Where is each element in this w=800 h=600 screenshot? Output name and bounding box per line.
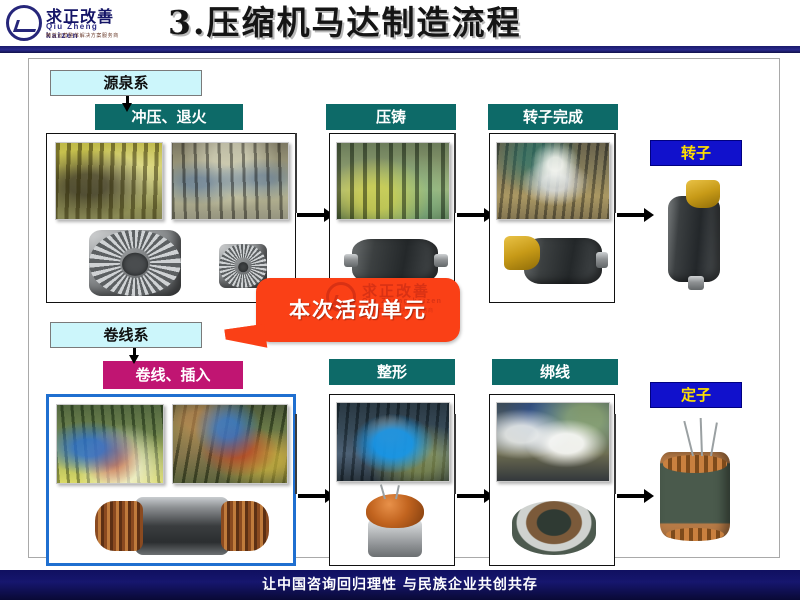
system-label-rotor: 源泉系 <box>50 70 202 96</box>
photo-annealing-line <box>171 142 289 220</box>
output-part-rotor <box>668 196 720 282</box>
system-label-stator: 卷线系 <box>50 322 202 348</box>
part-copper-bundle-right <box>221 501 269 551</box>
output-part-stator-leads <box>688 418 722 456</box>
activity-callout: 求正改善 Qiu Zheng kaizen 精益运营整体解决方案服务商 本次活动… <box>256 278 460 342</box>
part-rotor-shaft-right <box>434 254 448 267</box>
part-shaped-stator-winding <box>366 494 424 528</box>
panel-divider-3 <box>614 133 616 213</box>
step-panel-winding-insertion <box>46 394 296 566</box>
logo-tagline: 精益运营整体解决方案服务商 <box>46 32 119 39</box>
part-stator-core-lamination <box>89 230 181 296</box>
slide-header: 求正改善 Qiu Zheng kaizen 精益运营整体解决方案服务商 3.压缩… <box>0 0 800 52</box>
connector-system-to-step-rotor <box>126 96 129 104</box>
header-divider <box>0 46 800 53</box>
panel-divider-2 <box>454 133 456 213</box>
step-label-winding-insertion[interactable]: 卷线、插入 <box>103 361 243 389</box>
photo-rotor-assembly-worker <box>496 142 610 220</box>
slide-footer: 让中国咨询回归理性 与民族企业共创共存 <box>0 570 800 600</box>
part-finished-rotor-shaft <box>596 252 608 268</box>
panel-divider-5 <box>454 414 456 494</box>
step-label-lacing[interactable]: 绑线 <box>492 359 618 385</box>
step-label-die-casting[interactable]: 压铸 <box>326 104 456 130</box>
photo-die-casting-machine <box>336 142 450 220</box>
step-label-rotor-complete[interactable]: 转子完成 <box>488 104 618 130</box>
slide-root: 求正改善 Qiu Zheng kaizen 精益运营整体解决方案服务商 3.压缩… <box>0 0 800 600</box>
photo-lacing-hands <box>496 402 610 482</box>
flow-arrow-3 <box>617 213 645 217</box>
output-part-rotor-shaft <box>688 276 704 290</box>
output-part-rotor-endring <box>686 180 720 208</box>
part-rotor-end-ring <box>504 236 540 270</box>
footer-slogan: 让中国咨询回归理性 与民族企业共创共存 <box>0 570 800 600</box>
step-label-shaping[interactable]: 整形 <box>329 359 455 385</box>
photo-stamping-line <box>55 142 163 220</box>
step-panel-lacing <box>489 394 615 566</box>
page-title: 3.压缩机马达制造流程 <box>168 1 728 45</box>
part-die-cast-rotor <box>352 239 438 283</box>
flow-arrow-1 <box>297 213 325 217</box>
step-panel-shaping <box>329 394 455 566</box>
part-inserted-stator <box>135 497 229 555</box>
flow-arrow-5 <box>457 494 485 498</box>
step-label-stamping-annealing[interactable]: 冲压、退火 <box>95 104 243 130</box>
flow-arrow-2 <box>457 213 485 217</box>
flow-arrow-4 <box>298 494 326 498</box>
panel-divider-4 <box>295 414 297 494</box>
photo-winding-machine <box>56 404 164 484</box>
output-part-stator <box>660 452 730 538</box>
photo-shaping-machine <box>336 402 450 482</box>
output-label-rotor: 转子 <box>650 140 742 166</box>
connector-system-to-step-stator <box>133 348 136 356</box>
part-shaping-lead-wires <box>382 483 408 499</box>
part-rotor-shaft-left <box>344 254 358 267</box>
part-copper-bundle-left <box>95 501 143 551</box>
flow-arrow-6 <box>617 494 645 498</box>
output-label-stator: 定子 <box>650 382 742 408</box>
photo-insertion-machine <box>172 404 288 484</box>
panel-divider-6 <box>614 414 616 494</box>
part-laced-stator <box>512 501 596 555</box>
panel-divider-1 <box>295 133 297 213</box>
step-panel-rotor-complete <box>489 133 615 303</box>
company-logo: 求正改善 Qiu Zheng kaizen 精益运营整体解决方案服务商 <box>4 2 132 44</box>
kaizen-circle-icon <box>6 5 42 41</box>
activity-callout-text: 本次活动单元 <box>256 278 460 342</box>
